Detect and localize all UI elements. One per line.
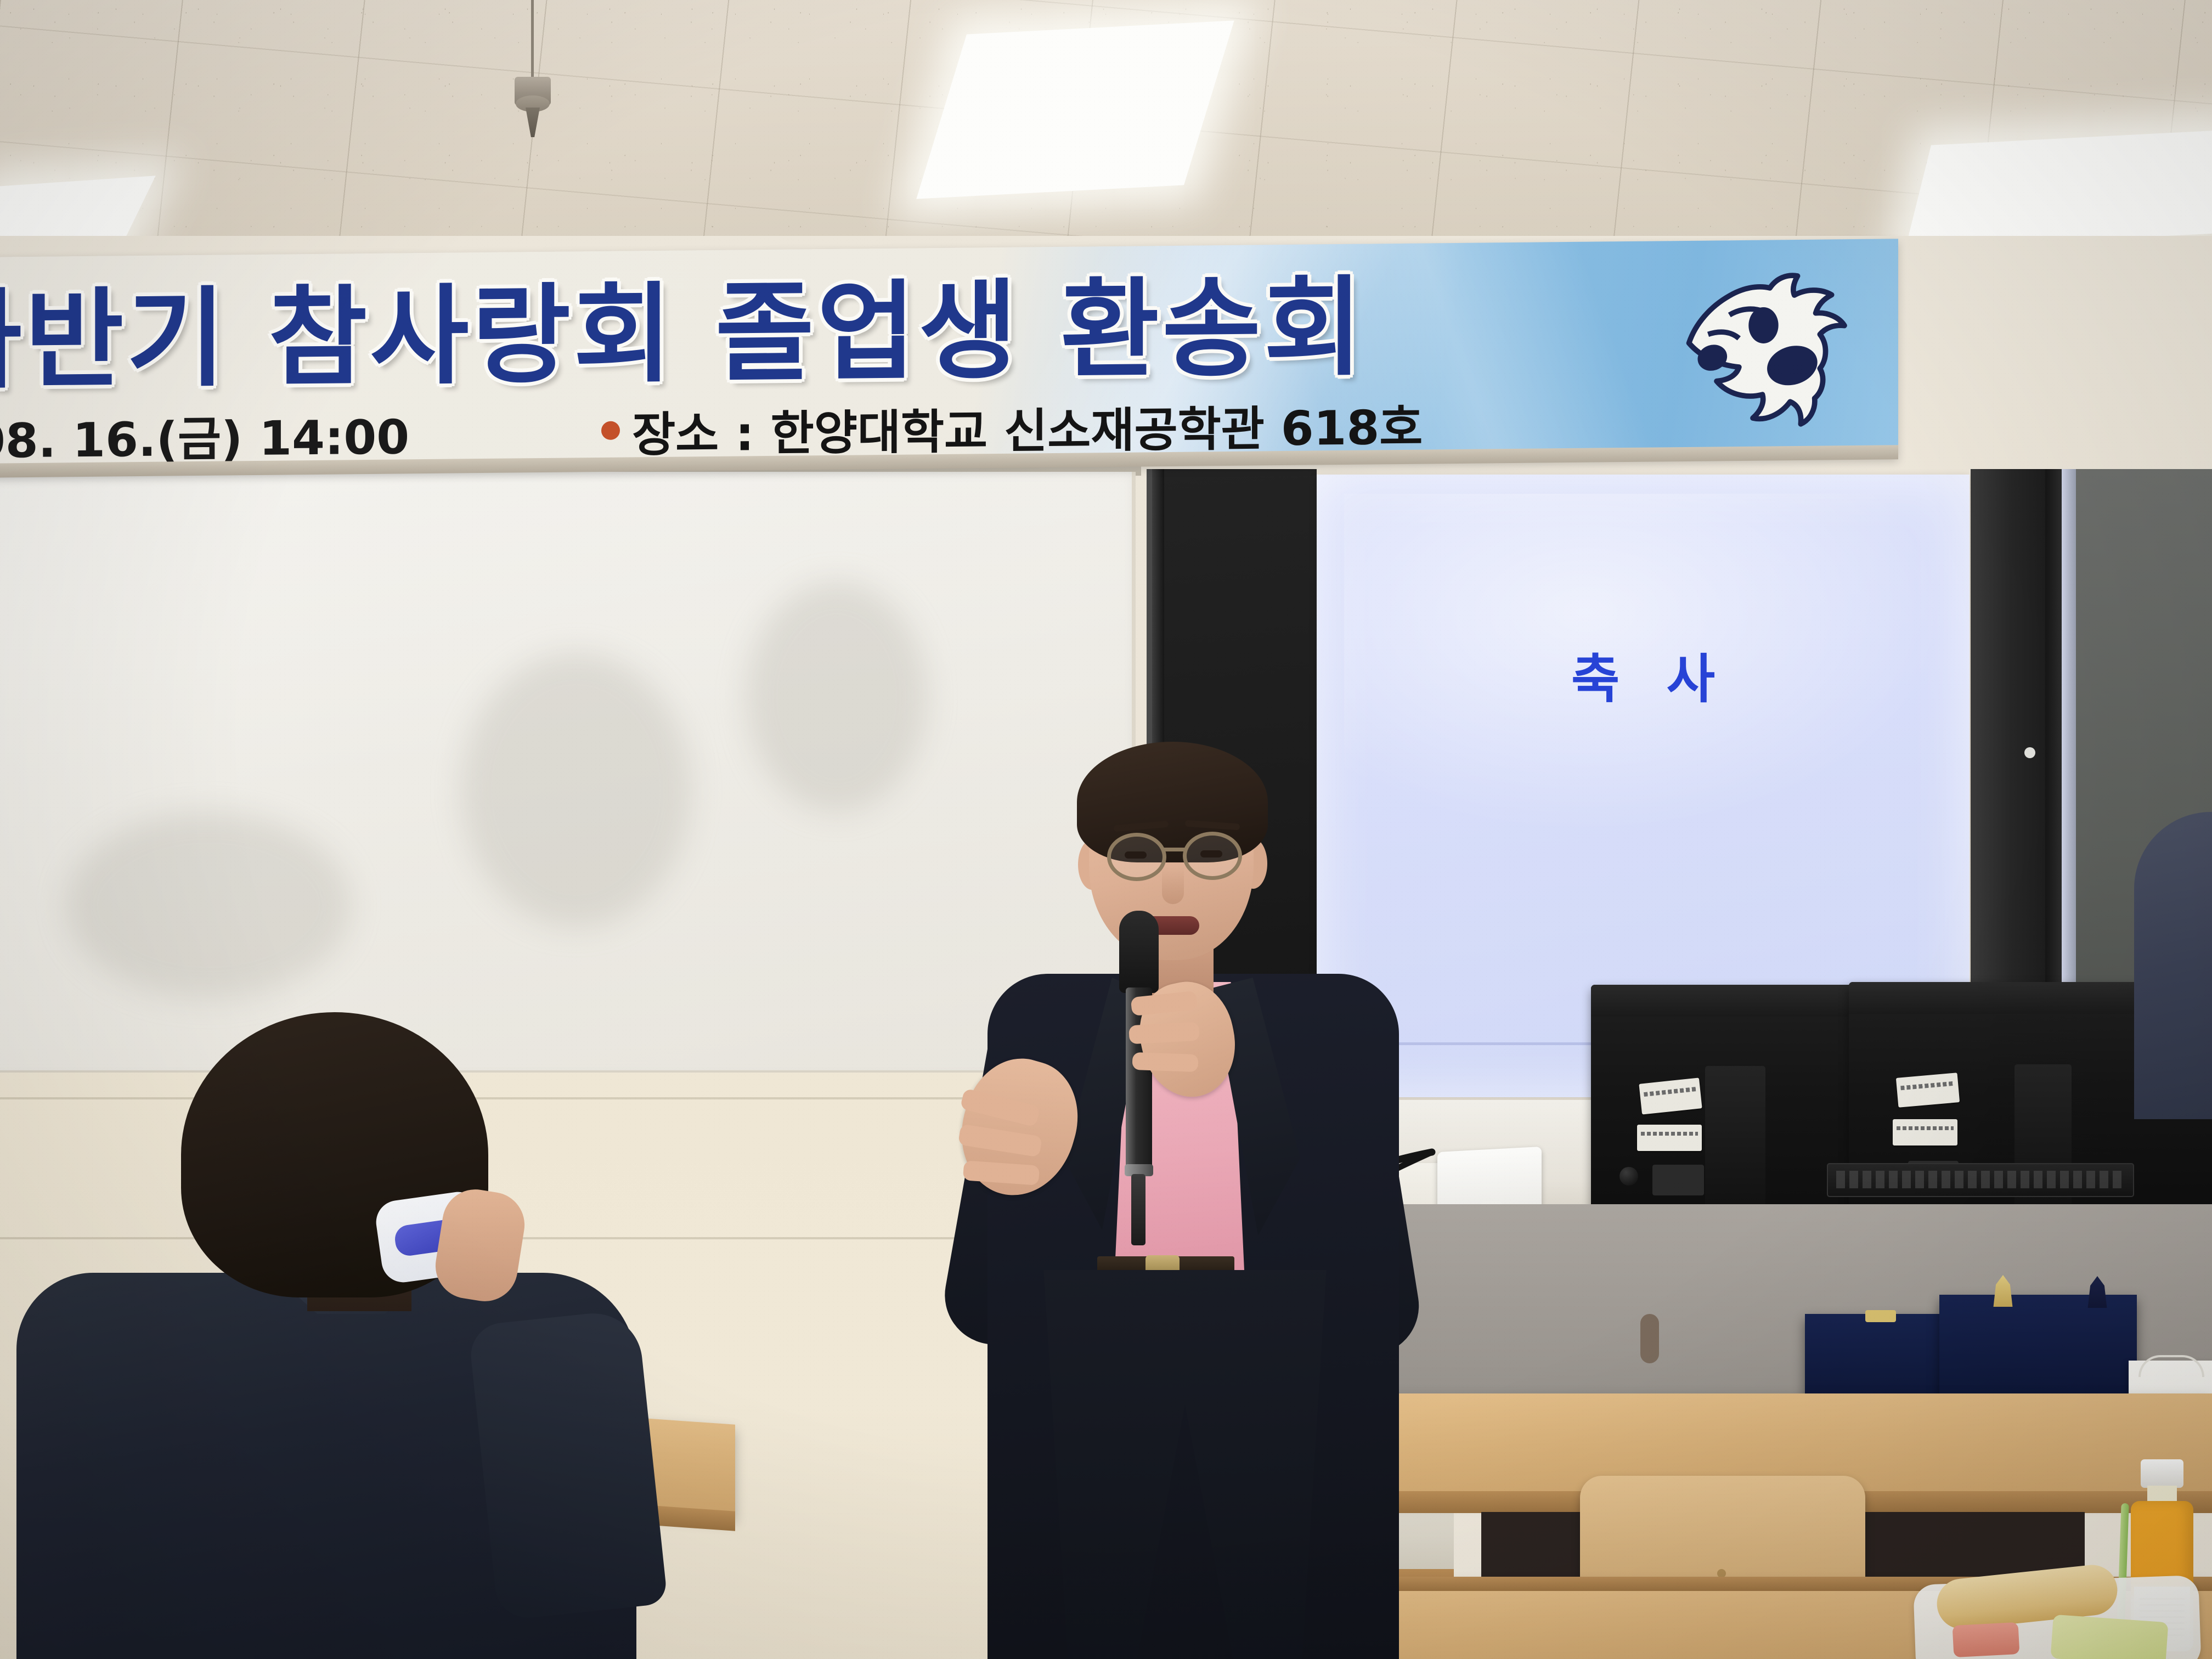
lecture-room-photo: 축 사 나반기 참사랑회 졸업생 환송회 08. 16.(금) 14:00 장소… <box>0 0 2212 1659</box>
paper-bag-handle <box>2138 1355 2204 1377</box>
bottle-cap <box>2141 1459 2183 1488</box>
monitor-stand <box>1705 1066 1765 1220</box>
speaker-hair <box>1077 742 1268 862</box>
bullet-dot-icon <box>601 421 620 440</box>
ceiling <box>0 0 2212 258</box>
sprinkler-icon <box>510 77 554 137</box>
sandwich-wrapper <box>2050 1615 2168 1659</box>
sandwich-filling <box>1953 1622 2020 1657</box>
monitor-asset-label <box>1896 1073 1960 1108</box>
monitor-asset-label <box>1639 1077 1702 1114</box>
keyboard[interactable] <box>1827 1163 2134 1197</box>
seated-attendee-arm <box>468 1308 668 1621</box>
banner-title-text: 나반기 참사랑회 졸업생 환송회 <box>0 247 1635 400</box>
plaque-clasp-icon <box>1865 1310 1896 1322</box>
whiteboard <box>0 472 1136 1075</box>
speaker-glasses-bridge <box>1163 848 1186 851</box>
event-banner: 나반기 참사랑회 졸업생 환송회 08. 16.(금) 14:00 장소 : 한… <box>0 239 1898 477</box>
monitor-asset-label <box>1893 1119 1957 1145</box>
right-panel-knob-icon <box>2024 747 2035 758</box>
partition-notch <box>1640 1314 1659 1363</box>
ceiling-light-panel-3 <box>1905 129 2212 249</box>
microphone-icon[interactable] <box>1119 911 1159 993</box>
person-right-edge <box>2134 812 2212 1119</box>
hanyang-lion-mascot-logo-icon <box>1662 258 1882 442</box>
ceiling-light-panel-2 <box>916 20 1234 199</box>
monitor-asset-label <box>1637 1125 1702 1151</box>
slide-title-text: 축 사 <box>1317 653 1970 706</box>
